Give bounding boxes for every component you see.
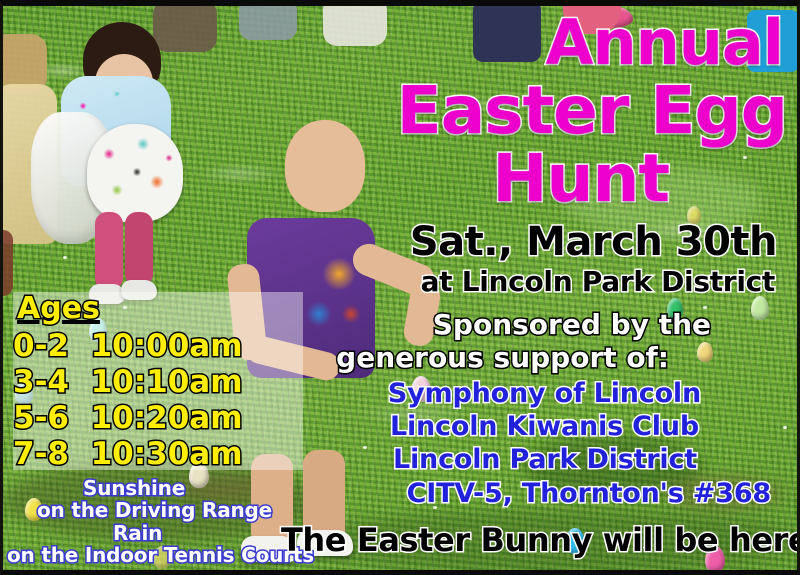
easter-egg [751, 296, 769, 320]
weather-note-line-2: on the Driving Range [37, 500, 272, 520]
ages-heading: Ages [17, 294, 100, 324]
sponsor-intro-line-2: generous support of: [336, 344, 669, 372]
age-range: 3-4 [13, 364, 69, 400]
child-leg-left [95, 212, 123, 290]
age-row: 7-8 10:30am [13, 439, 243, 470]
clover-speck [783, 426, 787, 429]
figure-leg [3, 230, 13, 296]
child-leg-right [125, 212, 153, 286]
sponsor-name: Lincoln Park District [393, 446, 697, 473]
easter-egg-hunt-poster: Annual Easter Egg Hunt Sat., March 30th … [0, 0, 800, 575]
age-row: 5-6 10:20am [13, 403, 243, 434]
girl-head [285, 120, 365, 212]
poster-title-line-3: Hunt [492, 146, 669, 212]
weather-note-line-3: Rain [113, 523, 162, 543]
figure-torso [473, 6, 541, 62]
child-with-polkadot-bag [25, 16, 205, 306]
age-time: 10:20am [91, 400, 243, 436]
clover-speck [743, 156, 747, 159]
poster-title-line-1: Annual [546, 12, 784, 74]
figure-background-jeans [473, 6, 547, 66]
age-time: 10:10am [91, 364, 243, 400]
sponsor-name: Lincoln Kiwanis Club [390, 413, 699, 440]
figure-torso [239, 6, 297, 40]
weather-note-line-1: Sunshine [83, 478, 185, 498]
sponsor-name: CITV-5, Thornton's #368 [407, 480, 771, 507]
polka-dot-bag [87, 124, 183, 222]
ages-heading-text: Ages [17, 291, 100, 326]
age-range: 0-2 [13, 328, 69, 364]
age-row: 3-4 10:10am [13, 367, 243, 398]
age-time: 10:00am [91, 328, 243, 364]
easter-bunny-footer: The Easter Bunny will be here too! [281, 524, 800, 556]
age-range: 7-8 [13, 436, 69, 472]
figure-torso [323, 6, 387, 46]
weather-note-line-4: on the Indoor Tennis Courts [7, 545, 314, 565]
age-time: 10:30am [91, 436, 243, 472]
event-date: Sat., March 30th [410, 222, 777, 262]
figure-background-3 [239, 6, 299, 42]
age-range: 5-6 [13, 400, 69, 436]
easter-egg [697, 342, 713, 362]
figure-background-4 [323, 6, 393, 52]
sponsor-intro-line-1: Sponsored by the [433, 311, 711, 339]
sponsor-name: Symphony of Lincoln [388, 380, 701, 407]
event-location: at Lincoln Park District [421, 268, 775, 296]
age-row: 0-2 10:00am [13, 331, 243, 362]
poster-title-line-2: Easter Egg [397, 78, 787, 144]
